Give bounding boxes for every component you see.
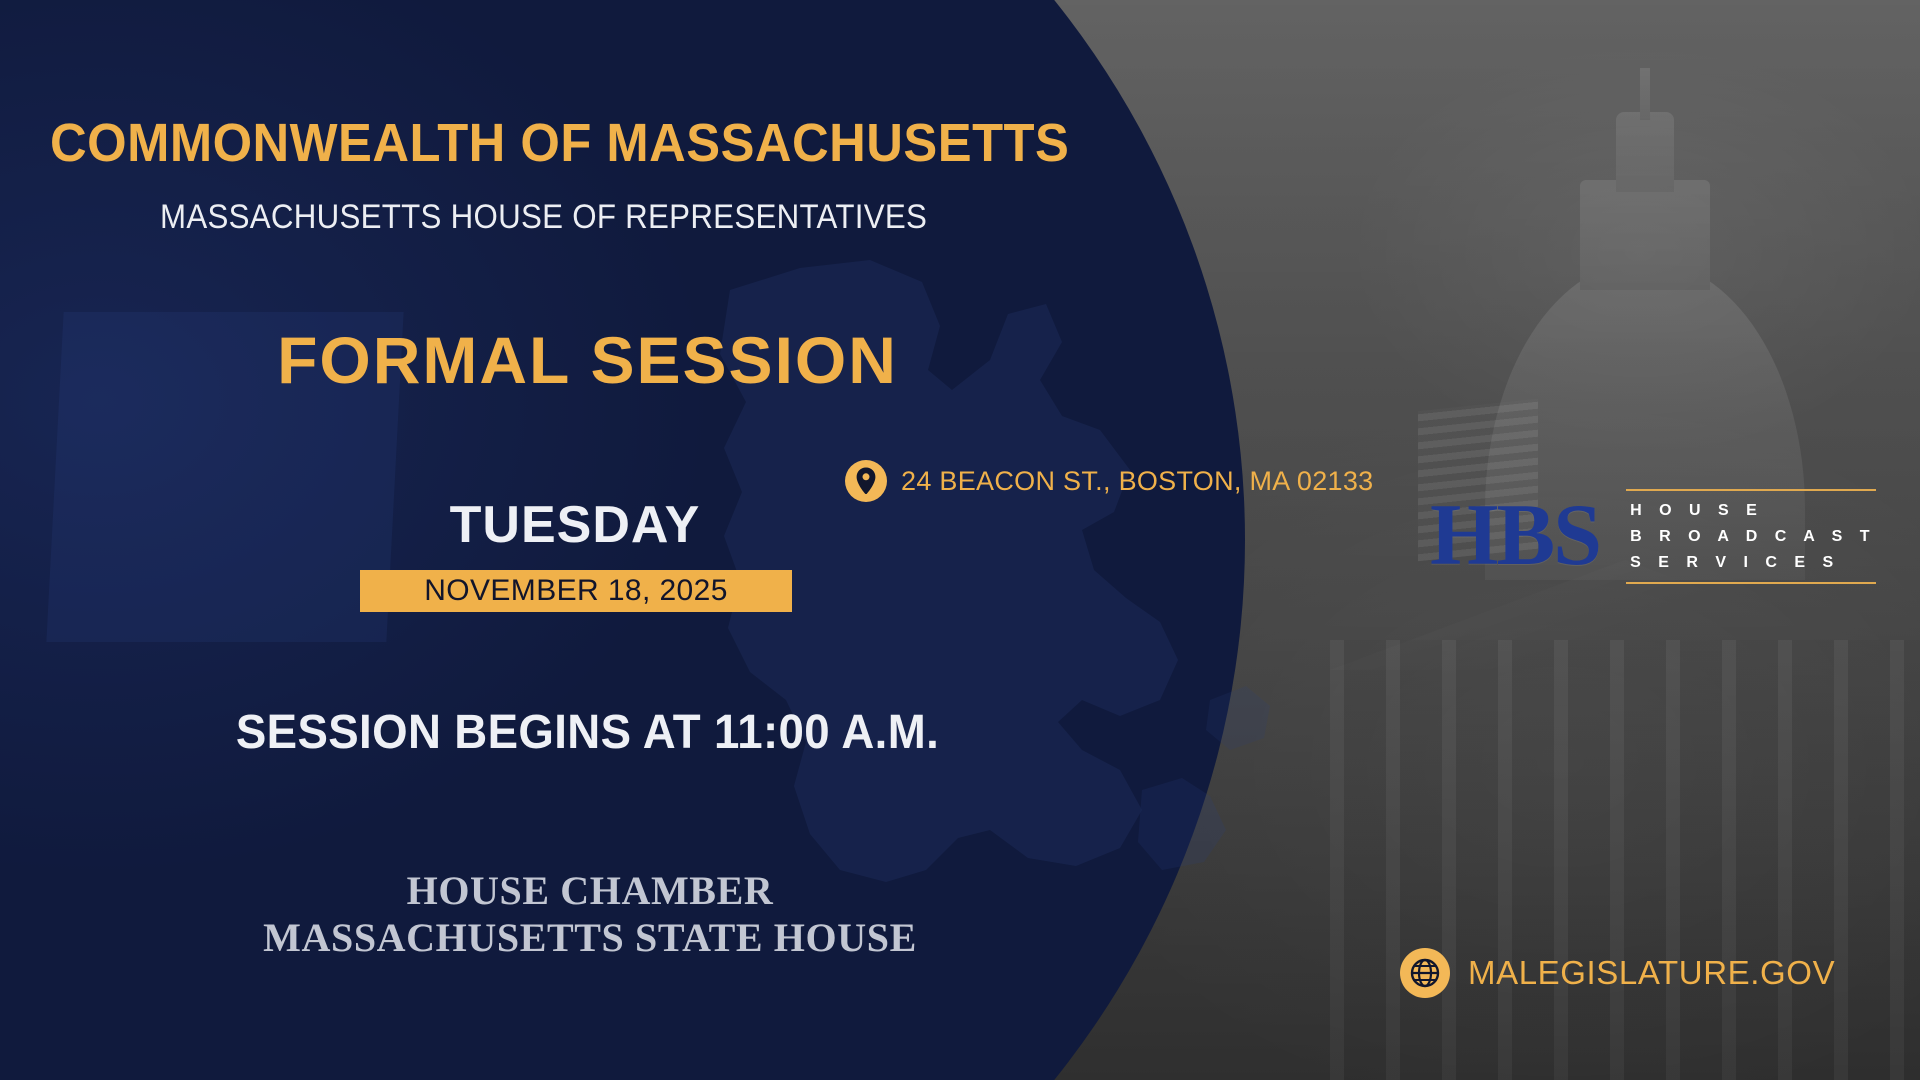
hbs-monogram: HBS	[1430, 492, 1600, 580]
session-start-time: SESSION BEGINS AT 11:00 A.M.	[29, 705, 1145, 760]
address-row: 24 BEACON ST., BOSTON, MA 02133	[845, 460, 1374, 502]
website-text[interactable]: MALEGISLATURE.GOV	[1468, 954, 1835, 992]
venue-line-1: HOUSE CHAMBER	[0, 868, 1180, 915]
slate-content: COMMONWEALTH OF MASSACHUSETTS MASSACHUSE…	[0, 0, 1300, 1080]
session-day: TUESDAY	[365, 495, 785, 555]
hbs-rule-bottom	[1626, 582, 1876, 584]
session-date-text: NOVEMBER 18, 2025	[424, 574, 728, 608]
location-pin-icon	[845, 460, 887, 502]
hbs-logo: HBS H O U S E B R O A D C A S T S E R V …	[1430, 480, 1876, 593]
session-date-badge: NOVEMBER 18, 2025	[360, 570, 792, 612]
page-subtitle: MASSACHUSETTS HOUSE OF REPRESENTATIVES	[160, 198, 1080, 237]
hbs-wordmark: H O U S E B R O A D C A S T S E R V I C …	[1626, 480, 1876, 593]
globe-icon	[1400, 948, 1450, 998]
broadcast-slate: COMMONWEALTH OF MASSACHUSETTS MASSACHUSE…	[0, 0, 1920, 1080]
hbs-line-services: S E R V I C E S	[1630, 550, 1876, 576]
venue-line-2: MASSACHUSETTS STATE HOUSE	[0, 915, 1180, 962]
hbs-line-broadcast: B R O A D C A S T	[1630, 524, 1876, 550]
hbs-wordmark-lines: H O U S E B R O A D C A S T S E R V I C …	[1626, 491, 1876, 582]
website-row[interactable]: MALEGISLATURE.GOV	[1400, 948, 1835, 998]
session-type-heading: FORMAL SESSION	[0, 322, 1175, 398]
hbs-line-house: H O U S E	[1630, 498, 1876, 524]
page-title: COMMONWEALTH OF MASSACHUSETTS	[50, 112, 1178, 174]
address-text: 24 BEACON ST., BOSTON, MA 02133	[901, 466, 1374, 497]
venue-block: HOUSE CHAMBER MASSACHUSETTS STATE HOUSE	[0, 868, 1180, 962]
